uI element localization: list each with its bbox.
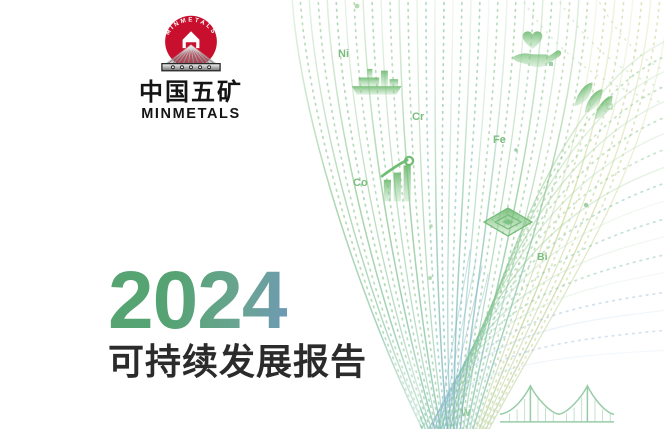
- leaf-sprout-icon: [569, 76, 619, 125]
- company-name-en: MINMETALS: [96, 107, 286, 123]
- company-name-cn: 中国五矿: [96, 80, 286, 106]
- element-label-fe: Fe: [493, 134, 506, 146]
- suspension-bridge-icon: [500, 386, 614, 422]
- growth-bar-chart-icon: [382, 157, 413, 202]
- element-label-bi: Bi: [537, 251, 548, 263]
- element-label-ni: Ni: [338, 48, 349, 60]
- report-year: 2024: [108, 262, 367, 341]
- ship-icon: [352, 69, 402, 95]
- element-label-cr: Cr: [412, 111, 424, 123]
- accent-dots: [355, 4, 612, 280]
- company-logo: MINMETALS: [96, 8, 286, 123]
- element-label-w: W: [461, 408, 470, 419]
- cover-headline: 2024 可持续发展报告: [108, 262, 367, 381]
- element-label-co: Co: [353, 177, 368, 189]
- hand-holding-heart-icon: [512, 31, 561, 67]
- microchip-icon: [484, 208, 532, 236]
- minmetals-emblem-icon: MINMETALS: [152, 8, 230, 74]
- report-cover: Ni Cr Fe Co Bi W MINMETALS: [0, 0, 664, 429]
- report-title: 可持续发展报告: [108, 343, 367, 381]
